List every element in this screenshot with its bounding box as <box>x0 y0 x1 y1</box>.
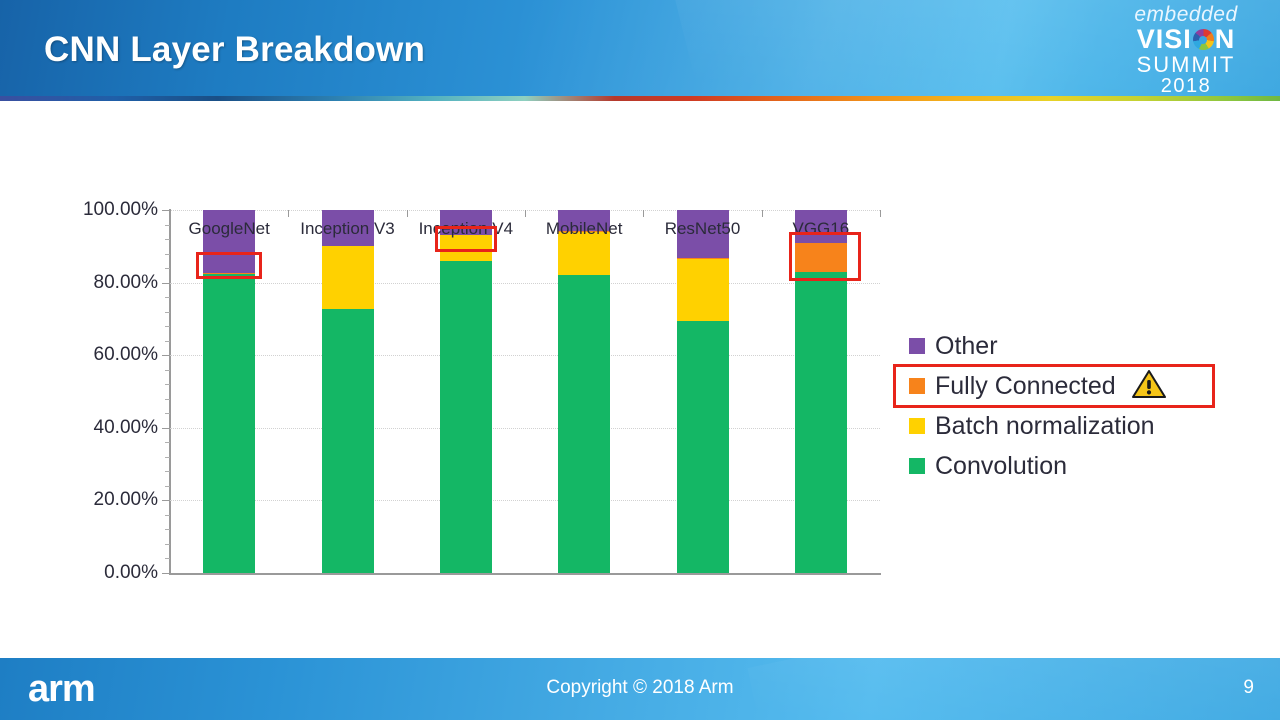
slide-footer: arm Copyright © 2018 Arm 9 <box>0 658 1280 720</box>
y-axis-label: 60.00% <box>94 344 158 366</box>
y-axis-tick-major <box>162 500 170 501</box>
slide-header: CNN Layer Breakdown embedded VISI N SUMM… <box>0 0 1280 96</box>
x-axis-label: MobileNet <box>546 219 623 239</box>
color-wheel-icon <box>1193 29 1214 50</box>
bar-segment-fully-connected <box>795 243 847 272</box>
x-axis-tick <box>762 210 763 217</box>
x-axis-tick <box>880 210 881 217</box>
y-axis-tick-major <box>162 283 170 284</box>
y-axis-label: 0.00% <box>104 562 158 584</box>
legend-swatch-icon <box>909 338 925 354</box>
bar-segment-convolution <box>322 309 374 573</box>
slide: CNN Layer Breakdown embedded VISI N SUMM… <box>0 0 1280 720</box>
y-axis-tick-major <box>162 355 170 356</box>
stacked-bar <box>203 210 255 573</box>
legend-item-fully-connected[interactable]: Fully Connected <box>905 366 1245 406</box>
y-axis-label: 20.00% <box>94 489 158 511</box>
x-axis-label: ResNet50 <box>665 219 741 239</box>
page-number: 9 <box>1243 677 1254 699</box>
x-axis-label: VGG16 <box>792 219 849 239</box>
y-axis-label: 100.00% <box>83 199 158 221</box>
bar-segment-convolution <box>440 261 492 573</box>
logo-line-year: 2018 <box>1106 76 1266 96</box>
bar-series-layer <box>170 210 880 573</box>
chart-area: 0.00%20.00%40.00%60.00%80.00%100.00% Goo… <box>0 101 1280 656</box>
logo-vision-text-right: N <box>1215 26 1236 53</box>
legend-swatch-icon <box>909 418 925 434</box>
chart-legend: OtherFully ConnectedBatch normalizationC… <box>905 326 1245 486</box>
stacked-bar <box>795 210 847 573</box>
x-axis-tick <box>525 210 526 217</box>
stacked-bar <box>440 210 492 573</box>
stacked-bar <box>677 210 729 573</box>
legend-swatch-icon <box>909 378 925 394</box>
legend-label: Fully Connected <box>935 372 1116 401</box>
copyright-text: Copyright © 2018 Arm <box>0 677 1280 699</box>
bar-segment-convolution <box>558 275 610 573</box>
x-axis-label: Inception V4 <box>419 219 514 239</box>
legend-item-convolution[interactable]: Convolution <box>905 446 1245 486</box>
embedded-vision-summit-logo: embedded VISI N SUMMIT 2018 <box>1106 2 1266 96</box>
x-axis-line <box>169 573 881 575</box>
logo-line-summit: SUMMIT <box>1106 54 1266 76</box>
y-axis-tick-major <box>162 210 170 211</box>
plot-area: 0.00%20.00%40.00%60.00%80.00%100.00% Goo… <box>170 210 880 573</box>
page-title: CNN Layer Breakdown <box>44 30 425 70</box>
bar-segment-batch-normalization <box>440 235 492 260</box>
logo-vision-text-left: VISI <box>1137 26 1192 53</box>
y-axis-tick-major <box>162 573 170 574</box>
x-axis-tick <box>170 210 171 217</box>
bar-segment-batch-normalization <box>322 246 374 309</box>
y-axis-label: 80.00% <box>94 272 158 294</box>
x-axis-label: GoogleNet <box>189 219 270 239</box>
bar-segment-convolution <box>795 272 847 573</box>
x-axis-tick <box>407 210 408 217</box>
legend-item-batch-normalization[interactable]: Batch normalization <box>905 406 1245 446</box>
legend-label: Batch normalization <box>935 412 1155 441</box>
bar-segment-convolution <box>677 321 729 573</box>
logo-line-vision: VISI N <box>1106 26 1266 53</box>
y-axis-label: 40.00% <box>94 417 158 439</box>
logo-line-embedded: embedded <box>1106 4 1266 25</box>
legend-label: Convolution <box>935 452 1067 481</box>
stacked-bar <box>558 210 610 573</box>
x-axis-tick <box>288 210 289 217</box>
x-axis-label: Inception V3 <box>300 219 395 239</box>
legend-label: Other <box>935 332 998 361</box>
legend-item-other[interactable]: Other <box>905 326 1245 366</box>
stacked-bar <box>322 210 374 573</box>
warning-triangle-icon <box>1132 369 1166 404</box>
bar-segment-batch-normalization <box>677 259 729 321</box>
bar-segment-convolution <box>203 274 255 573</box>
legend-swatch-icon <box>909 458 925 474</box>
x-axis-tick <box>643 210 644 217</box>
y-axis-tick-major <box>162 428 170 429</box>
